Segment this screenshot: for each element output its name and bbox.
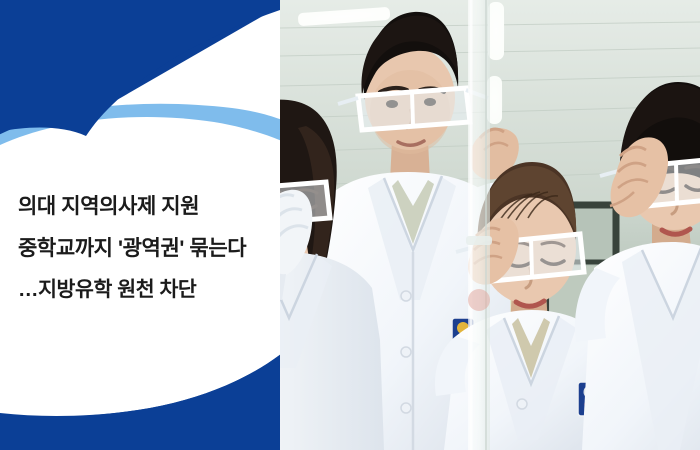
laboratory-photo [280,0,700,450]
headline-block: 의대 지역의사제 지원 중학교까지 '광역권' 묶는다 …지방유학 원천 차단 [18,196,280,301]
safety-goggles-back-center [338,88,488,130]
glass-column-foreground [466,0,492,450]
news-thumbnail-card: 의대 지역의사제 지원 중학교까지 '광역권' 묶는다 …지방유학 원천 차단 [0,0,700,450]
laboratory-photo-illustration [280,0,700,450]
left-graphic-panel: 의대 지역의사제 지원 중학교까지 '광역권' 묶는다 …지방유학 원천 차단 [0,0,280,450]
headline-line-2: 중학교까지 '광역권' 묶는다 [18,238,280,259]
headline-line-1: 의대 지역의사제 지원 [18,196,280,217]
headline-line-3: …지방유학 원천 차단 [18,280,280,301]
